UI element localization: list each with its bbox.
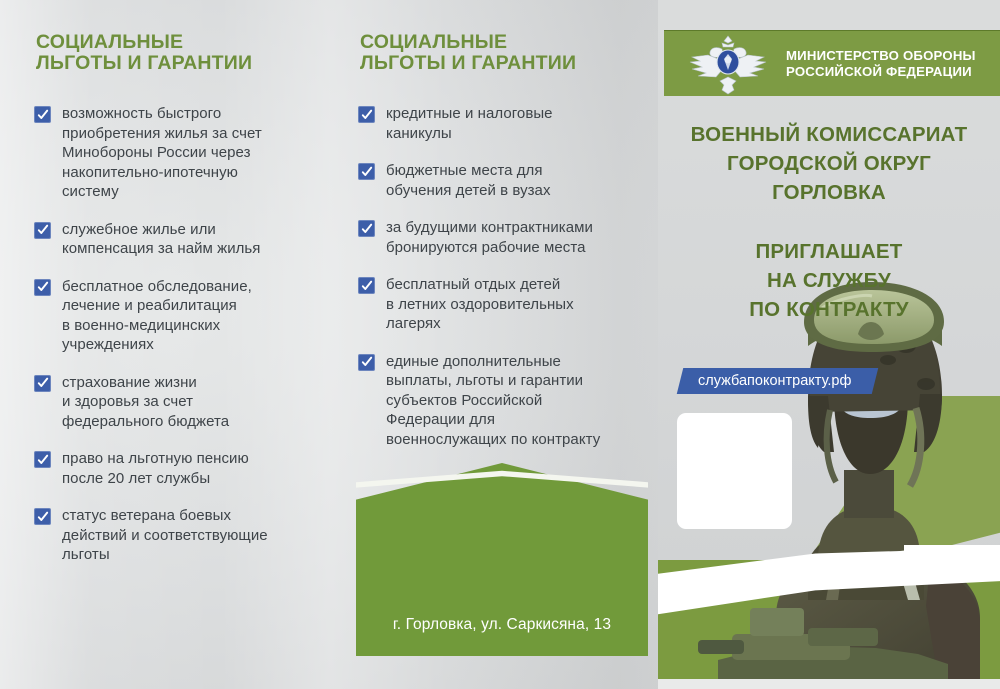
recruitment-call-to-action: ПРИГЛАШАЕТ НА СЛУЖБУ ПО КОНТРАКТУ [658, 237, 1000, 324]
benefit-item: бюджетные места для обучения детей в вуз… [358, 161, 644, 200]
benefit-item: право на льготную пенсию после 20 лет сл… [34, 449, 334, 488]
address-text: г. Горловка, ул. Саркисяна, 13 [356, 616, 648, 634]
benefit-text: бесплатное обследование, лечение и реаби… [62, 277, 252, 355]
check-icon [34, 222, 51, 239]
check-icon [358, 220, 375, 237]
column2-bullet-list: кредитные и налоговые каникулыбюджетные … [358, 104, 644, 467]
website-badge[interactable]: службапоконтракту.рф [677, 368, 879, 394]
check-icon [358, 277, 375, 294]
benefit-text: страхование жизни и здоровья за счет фед… [62, 373, 229, 432]
white-strip-decoration [904, 545, 1000, 577]
check-icon [358, 163, 375, 180]
benefit-item: страхование жизни и здоровья за счет фед… [34, 373, 334, 432]
benefit-text: право на льготную пенсию после 20 лет сл… [62, 449, 249, 488]
website-url: службапоконтракту.рф [698, 373, 851, 389]
column1-bullet-list: возможность быстрого приобретения жилья … [34, 104, 334, 583]
check-icon [358, 106, 375, 123]
check-icon [34, 508, 51, 525]
benefit-text: служебное жилье или компенсация за найм … [62, 220, 260, 259]
right-panel: МИНИСТЕРСТВО ОБОРОНЫ РОССИЙСКОЙ ФЕДЕРАЦИ… [658, 0, 1000, 689]
benefit-item: за будущими контрактниками бронируются р… [358, 218, 644, 257]
benefit-item: статус ветерана боевых действий и соотве… [34, 506, 334, 565]
benefit-text: единые дополнительные выплаты, льготы и … [386, 352, 600, 450]
check-icon [34, 106, 51, 123]
benefit-text: кредитные и налоговые каникулы [386, 104, 553, 143]
column1-title: СОЦИАЛЬНЫЕ ЛЬГОТЫ И ГАРАНТИИ [36, 32, 252, 74]
check-icon [358, 354, 375, 371]
column2-title: СОЦИАЛЬНЫЕ ЛЬГОТЫ И ГАРАНТИИ [360, 32, 576, 74]
check-icon [34, 375, 51, 392]
benefit-item: бесплатное обследование, лечение и реаби… [34, 277, 334, 355]
benefit-item: кредитные и налоговые каникулы [358, 104, 644, 143]
bottom-edge [658, 679, 1000, 689]
check-icon [34, 279, 51, 296]
benefit-item: служебное жилье или компенсация за найм … [34, 220, 334, 259]
benefit-text: за будущими контрактниками бронируются р… [386, 218, 593, 257]
benefit-item: единые дополнительные выплаты, льготы и … [358, 352, 644, 450]
benefit-text: бюджетные места для обучения детей в вуз… [386, 161, 551, 200]
recruitment-office-title: ВОЕННЫЙ КОМИССАРИАТ ГОРОДСКОЙ ОКРУГ ГОРЛ… [658, 120, 1000, 207]
benefit-text: возможность быстрого приобретения жилья … [62, 104, 262, 202]
benefit-item: возможность быстрого приобретения жилья … [34, 104, 334, 202]
benefit-text: бесплатный отдых детей в летних оздорови… [386, 275, 574, 334]
qr-code-placeholder[interactable] [677, 413, 792, 529]
check-icon [34, 451, 51, 468]
benefit-text: статус ветерана боевых действий и соотве… [62, 506, 268, 565]
benefit-item: бесплатный отдых детей в летних оздорови… [358, 275, 644, 334]
address-panel: г. Горловка, ул. Саркисяна, 13 [356, 463, 648, 656]
recruitment-poster: СОЦИАЛЬНЫЕ ЛЬГОТЫ И ГАРАНТИИ возможность… [0, 0, 1000, 689]
